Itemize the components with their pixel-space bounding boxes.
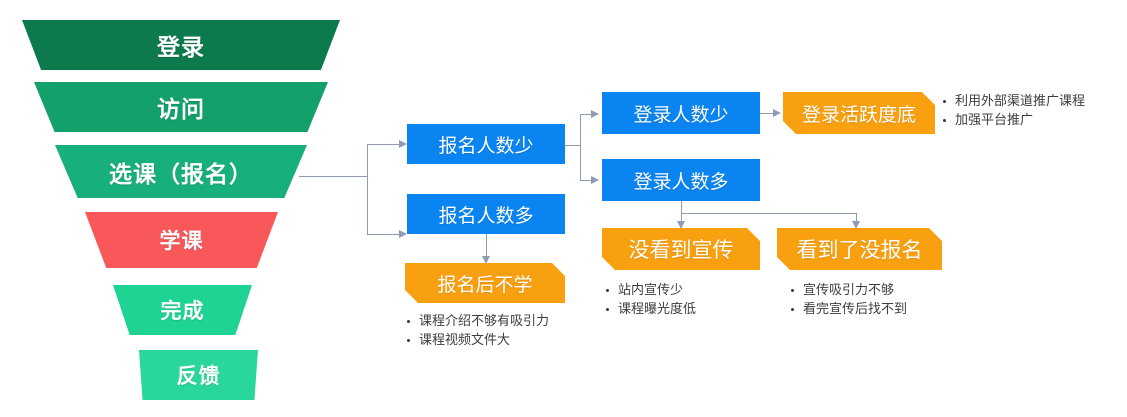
connector-line xyxy=(367,234,400,235)
funnel-stage-visit[interactable]: 访问 xyxy=(34,82,328,132)
node-label: 报名后不学 xyxy=(437,270,532,297)
bullets-login-activity: 利用外部渠道推广课程 加强平台推广 xyxy=(941,92,1126,130)
node-login-activity[interactable]: 登录活跃度底 xyxy=(783,92,935,134)
bullet-item: 课程介绍不够有吸引力 xyxy=(405,312,560,331)
connector-line xyxy=(565,145,580,146)
bullets-seen-not-signed: 宣传吸引力不够 看完宣传后找不到 xyxy=(789,281,969,319)
funnel-stage-label: 选课（报名） xyxy=(109,155,253,189)
bullets-signed-not-study: 课程介绍不够有吸引力 课程视频文件大 xyxy=(405,312,560,350)
node-seen-not-signed[interactable]: 看到了没报名 xyxy=(777,228,942,270)
bullet-item: 课程曝光度低 xyxy=(604,300,769,319)
bullet-item: 课程视频文件大 xyxy=(405,331,560,350)
arrow-head xyxy=(591,110,599,118)
node-signed-not-study[interactable]: 报名后不学 xyxy=(405,263,565,303)
node-label: 没看到宣传 xyxy=(629,234,734,264)
funnel-stage-label: 反馈 xyxy=(177,360,221,390)
bullet-item: 加强平台推广 xyxy=(941,111,1126,130)
node-login-low[interactable]: 登录人数少 xyxy=(602,92,760,134)
bullets-no-promo-seen: 站内宣传少 课程曝光度低 xyxy=(604,281,769,319)
node-login-high[interactable]: 登录人数多 xyxy=(602,159,760,201)
connector-line xyxy=(299,176,367,177)
connector-line xyxy=(580,114,581,180)
connector-line xyxy=(367,144,400,145)
funnel-stage-label: 完成 xyxy=(161,295,205,325)
connector-line xyxy=(367,144,368,234)
arrow-head xyxy=(591,176,599,184)
arrow-head xyxy=(852,221,860,229)
bullet-item: 站内宣传少 xyxy=(604,281,769,300)
connector-line xyxy=(486,234,487,258)
funnel-stage-label: 访问 xyxy=(157,90,205,124)
arrow-head xyxy=(482,256,490,264)
node-label: 登录人数多 xyxy=(633,167,728,194)
node-label: 报名人数少 xyxy=(438,131,533,158)
diagram-canvas: 登录 访问 选课（报名） 学课 完成 反馈 报名人数少 报名人数多 xyxy=(0,0,1127,417)
connector-line xyxy=(760,113,774,114)
funnel-stage-feedback[interactable]: 反馈 xyxy=(139,350,258,400)
node-signup-low[interactable]: 报名人数少 xyxy=(407,124,565,164)
node-signup-high[interactable]: 报名人数多 xyxy=(407,194,565,234)
bullet-item: 利用外部渠道推广课程 xyxy=(941,92,1126,111)
connector-line xyxy=(681,201,682,213)
funnel-stage-label: 学课 xyxy=(160,225,204,255)
arrow-head xyxy=(677,221,685,229)
funnel-stage-login[interactable]: 登录 xyxy=(22,20,340,70)
funnel-stage-study[interactable]: 学课 xyxy=(85,212,278,268)
funnel-stage-label: 登录 xyxy=(157,28,205,62)
connector-line xyxy=(681,213,856,214)
node-label: 登录活跃度底 xyxy=(802,100,916,127)
node-no-promo-seen[interactable]: 没看到宣传 xyxy=(602,228,760,270)
funnel-stage-complete[interactable]: 完成 xyxy=(113,285,252,335)
bullet-item: 看完宣传后找不到 xyxy=(789,300,969,319)
arrow-head xyxy=(399,140,407,148)
node-label: 登录人数少 xyxy=(633,100,728,127)
node-label: 报名人数多 xyxy=(438,201,533,228)
bullet-item: 宣传吸引力不够 xyxy=(789,281,969,300)
funnel-stage-enroll[interactable]: 选课（报名） xyxy=(55,145,307,198)
arrow-head xyxy=(773,109,781,117)
arrow-head xyxy=(399,230,407,238)
node-label: 看到了没报名 xyxy=(797,234,923,264)
